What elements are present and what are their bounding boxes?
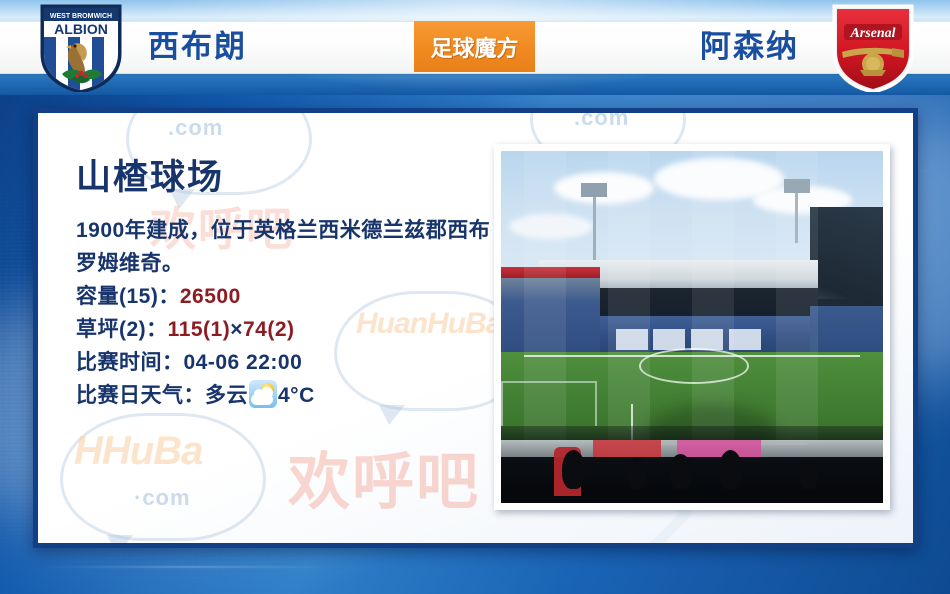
watermark-dotcom-mid: .com [574, 113, 629, 131]
weather-partly-cloudy-icon [249, 380, 277, 408]
match-time-row: 比赛时间：04-06 22:00 [76, 346, 496, 379]
capacity-label: 容量(15)： [76, 285, 180, 308]
capacity-row: 容量(15)：26500 [76, 280, 496, 313]
watermark-hhuba-left: HHuBa [74, 429, 202, 474]
match-time-label: 比赛时间： [76, 351, 184, 374]
photo-spectator-head-2 [627, 457, 646, 489]
photo-spectator-head-5 [799, 461, 818, 489]
watermark-dotcom-top: .com [168, 115, 223, 141]
stadium-photo-frame [494, 144, 890, 510]
photo-floodlight-pylon-left [593, 190, 596, 267]
photo-advert-red [593, 440, 662, 458]
capacity-value: 26500 [180, 285, 241, 308]
photo-goal-net [501, 381, 597, 425]
photo-floodlight-head-left [581, 183, 607, 197]
away-team-name: 阿森纳 [700, 21, 799, 72]
stadium-description: 1900年建成，位于英格兰西米德兰兹郡西布罗姆维奇。 [76, 214, 496, 280]
pitch-size-row: 草坪(2)：115(1)×74(2) [76, 313, 496, 346]
stadium-photo [501, 151, 883, 503]
watermark-dotcom-left: ·com [134, 485, 191, 511]
match-weather-row: 比赛日天气：多云4°C [76, 379, 496, 412]
stadium-info-card: .com .com ·com HHuBa HuanHuBa 欢呼吧 欢呼吧 山楂… [33, 108, 918, 548]
pitch-size-separator: × [230, 318, 243, 341]
match-header: WEST BROMWICH ALBION 西布 [0, 0, 950, 95]
match-temperature-value: 4°C [278, 384, 315, 407]
stadium-title: 山楂球场 [76, 149, 496, 200]
card-inner: .com .com ·com HHuBa HuanHuBa 欢呼吧 欢呼吧 山楂… [38, 113, 913, 543]
watermark-cn-big: 欢呼吧 [288, 431, 480, 521]
match-weather-value: 多云 [205, 384, 248, 407]
svg-text:Arsenal: Arsenal [849, 26, 895, 41]
pitch-size-label: 草坪(2)： [76, 318, 168, 341]
photo-centre-circle [639, 348, 750, 384]
svg-text:ALBION: ALBION [54, 21, 108, 37]
stadium-info-text: 山楂球场 1900年建成，位于英格兰西米德兰兹郡西布罗姆维奇。 容量(15)：2… [76, 149, 496, 412]
pitch-width-value: 74(2) [243, 318, 295, 341]
photo-spectator-head-1 [562, 450, 585, 489]
stadium-info-page: WEST BROMWICH ALBION 西布 [0, 0, 950, 594]
photo-spectator-head-3 [669, 454, 692, 489]
match-time-value: 04-06 22:00 [184, 351, 303, 374]
photo-advert-pink [677, 440, 761, 458]
background-streak-3 [40, 566, 340, 568]
home-team-name: 西布朗 [148, 21, 247, 72]
pitch-length-value: 115(1) [168, 318, 231, 341]
site-logo-text: 足球魔方 [430, 31, 518, 63]
site-logo[interactable]: 足球魔方 [414, 21, 535, 72]
photo-spectator-head-4 [719, 450, 742, 489]
arsenal-crest: Arsenal [830, 4, 916, 92]
match-weather-label: 比赛日天气： [76, 384, 205, 407]
west-bromwich-albion-crest: WEST BROMWICH ALBION [38, 4, 124, 92]
svg-text:WEST BROMWICH: WEST BROMWICH [50, 13, 112, 20]
